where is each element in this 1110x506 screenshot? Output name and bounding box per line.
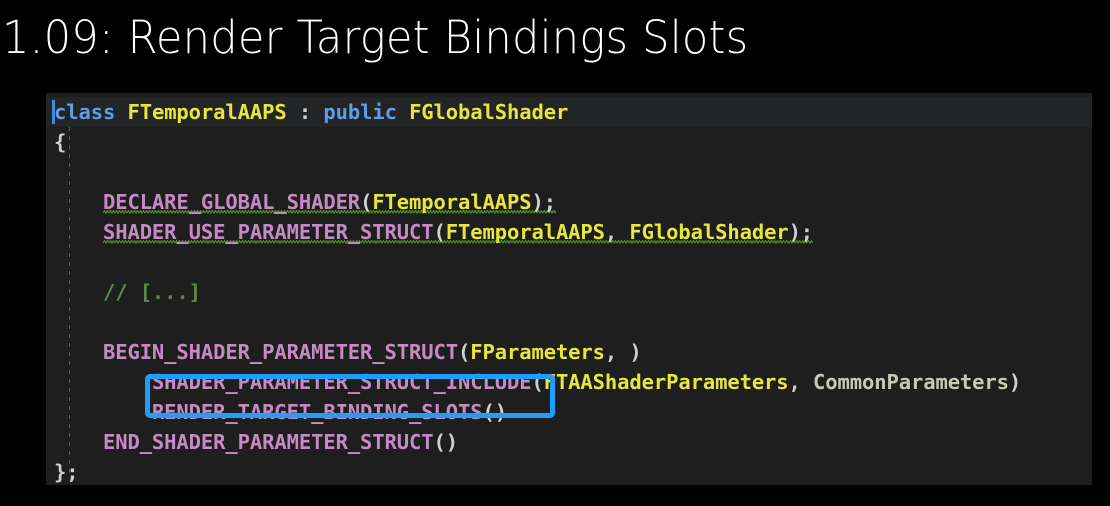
macro-declare-global-shader: DECLARE_GLOBAL_SHADER [103, 190, 360, 215]
arg-ftemporalaaps: FTemporalAAPS [446, 220, 605, 245]
comment-ellipsis: // [...] [103, 280, 201, 304]
paren-pair: () [434, 430, 458, 454]
indent [54, 430, 103, 454]
arg-commonparameters: CommonParameters [813, 370, 1009, 394]
type-ftemporalaaps: FTemporalAAPS [127, 100, 286, 124]
code-line[interactable]: SHADER_PARAMETER_STRUCT_INCLUDE(FTAAShad… [46, 367, 1092, 397]
slide-root: 1.09: Render Target Bindings Slots class… [0, 0, 1110, 506]
indent [54, 280, 103, 304]
code-line[interactable]: }; [46, 457, 1092, 485]
code-line-blank[interactable] [46, 307, 1092, 337]
paren-open: ( [458, 340, 470, 364]
type-fglobalshader: FGlobalShader [409, 100, 568, 124]
code-scroll-area[interactable]: class FTemporalAAPS : public FGlobalShad… [46, 93, 1092, 485]
code-line[interactable]: class FTemporalAAPS : public FGlobalShad… [46, 97, 1092, 127]
space [397, 100, 409, 124]
paren-open: ( [360, 190, 372, 215]
code-line-highlighted[interactable]: RENDER_TARGET_BINDING_SLOTS() [46, 397, 1092, 427]
indent [54, 370, 152, 394]
indent [54, 220, 103, 244]
space [115, 100, 127, 124]
code-line-blank[interactable] [46, 247, 1092, 277]
arg-ftemporalaaps: FTemporalAAPS [372, 190, 531, 215]
code-panel[interactable]: class FTemporalAAPS : public FGlobalShad… [46, 93, 1092, 485]
arg-fparameters: FParameters [470, 340, 605, 364]
code-line[interactable]: SHADER_USE_PARAMETER_STRUCT(FTemporalAAP… [46, 217, 1092, 247]
keyword-public: public [323, 100, 396, 124]
keyword-class: class [54, 100, 115, 124]
macro-begin-shader-parameter-struct: BEGIN_SHADER_PARAMETER_STRUCT [103, 340, 458, 364]
code-line[interactable]: { [46, 127, 1092, 157]
paren-pair: () [482, 400, 506, 424]
code-line[interactable]: BEGIN_SHADER_PARAMETER_STRUCT(FParameter… [46, 337, 1092, 367]
comma: , [605, 220, 629, 245]
paren-open: ( [531, 370, 543, 394]
comma: , [789, 370, 813, 394]
code-line-blank[interactable] [46, 157, 1092, 187]
indent [54, 340, 103, 364]
close-brace-semicolon: }; [54, 460, 78, 484]
paren-close: ) [1009, 370, 1021, 394]
page-title: 1.09: Render Target Bindings Slots [2, 0, 1058, 78]
macro-shader-parameter-struct-include: SHADER_PARAMETER_STRUCT_INCLUDE [152, 370, 532, 394]
arg-fglobalshader: FGlobalShader [629, 220, 788, 245]
paren-close-semicolon: ); [531, 190, 555, 215]
paren-close-semicolon: ); [789, 220, 813, 245]
macro-shader-use-parameter-struct: SHADER_USE_PARAMETER_STRUCT [103, 220, 434, 245]
code-line[interactable]: END_SHADER_PARAMETER_STRUCT() [46, 427, 1092, 457]
paren-close: , ) [605, 340, 642, 364]
inherit-colon: : [287, 100, 324, 124]
indent [54, 190, 103, 214]
macro-end-shader-parameter-struct: END_SHADER_PARAMETER_STRUCT [103, 430, 434, 454]
arg-ftaashaderparameters: FTAAShaderParameters [544, 370, 789, 394]
open-brace: { [54, 130, 66, 154]
macro-render-target-binding-slots: RENDER_TARGET_BINDING_SLOTS [152, 400, 483, 424]
code-line[interactable]: DECLARE_GLOBAL_SHADER(FTemporalAAPS); [46, 187, 1092, 217]
indent [54, 400, 152, 424]
paren-open: ( [434, 220, 446, 245]
code-line[interactable]: // [...] [46, 277, 1092, 307]
